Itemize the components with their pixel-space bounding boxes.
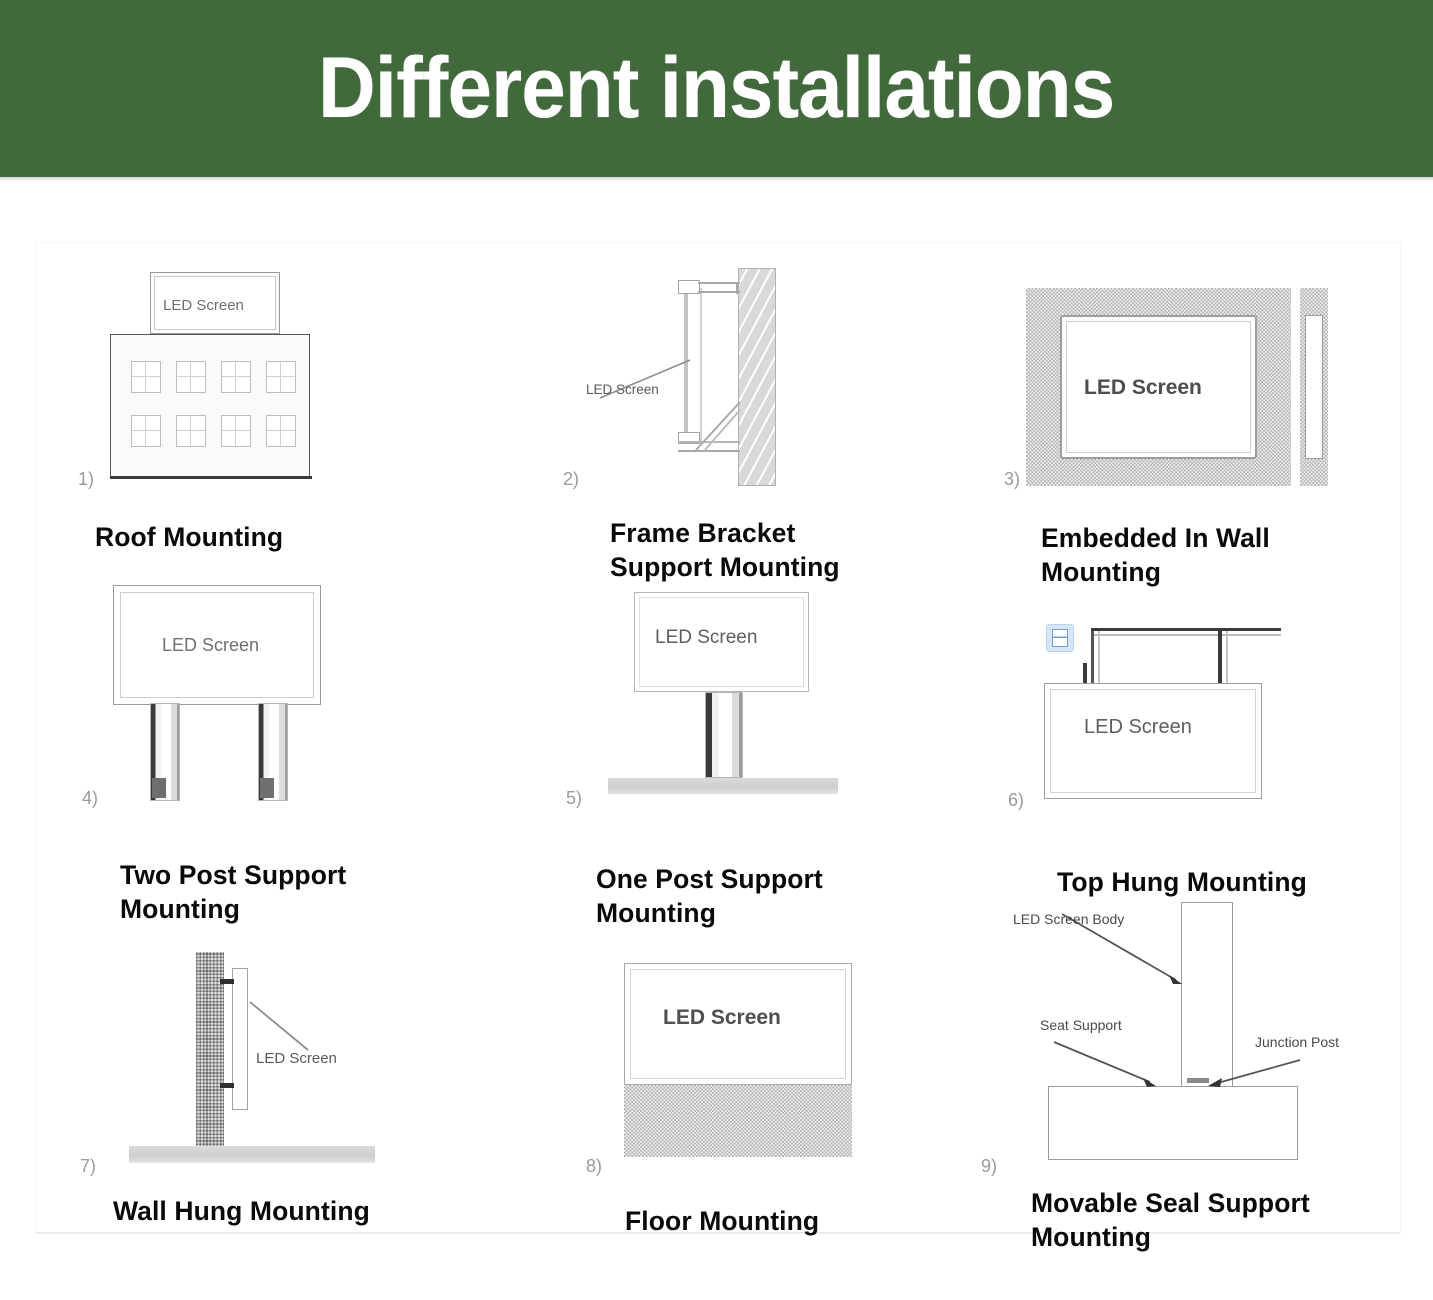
building-body xyxy=(110,334,310,478)
window xyxy=(221,415,251,447)
leader-line-seat-support xyxy=(1052,1040,1182,1092)
window xyxy=(221,361,251,393)
figure-index-6: 6) xyxy=(1008,790,1024,811)
screen-inner xyxy=(1050,689,1256,793)
figure-caption-6: Top Hung Mounting xyxy=(1057,865,1397,899)
ground-bar xyxy=(129,1146,375,1163)
hanger-left xyxy=(1091,631,1094,683)
diagonal-brace xyxy=(690,400,750,458)
figure-caption-5: One Post Support Mounting xyxy=(596,862,936,930)
seat-support-base xyxy=(1048,1086,1298,1160)
figure-index-8: 8) xyxy=(586,1156,602,1177)
hanger-right-shadow xyxy=(1226,631,1228,683)
figure-caption-9: Movable Seal Support Mounting xyxy=(1031,1186,1381,1254)
bracket-bottom xyxy=(220,1083,234,1088)
annotation-led-screen: LED Screen xyxy=(586,382,659,397)
figure-index-3: 3) xyxy=(1004,469,1020,490)
annotation-seat-support: Seat Support xyxy=(1040,1017,1122,1033)
annotation-led-screen-body: LED Screen Body xyxy=(1013,911,1124,927)
window xyxy=(266,361,296,393)
support-post-center xyxy=(705,692,743,778)
broken-image-icon[interactable] xyxy=(1046,624,1074,652)
leader-line-led-screen xyxy=(586,358,696,404)
two-post-screen-text: LED Screen xyxy=(162,635,259,656)
figure-index-2: 2) xyxy=(563,469,579,490)
floor-screen-text: LED Screen xyxy=(663,1006,781,1030)
building-base-shadow xyxy=(110,476,312,479)
window xyxy=(131,415,161,447)
overhead-beam-under xyxy=(1091,634,1281,636)
screen-side-profile xyxy=(1305,315,1323,459)
leader-line-junction-post xyxy=(1196,1052,1306,1092)
window xyxy=(176,415,206,447)
post-foot-left xyxy=(152,778,166,798)
annotation-led-screen: LED Screen xyxy=(256,1050,337,1067)
figure-index-9: 9) xyxy=(981,1156,997,1177)
post-foot-right xyxy=(260,778,274,798)
installations-grid: LED Screen xyxy=(0,0,1433,1300)
top-hung-screen-text: LED Screen xyxy=(1084,716,1192,739)
figure-caption-3: Embedded In Wall Mounting xyxy=(1041,521,1371,589)
figure-caption-2: Frame Bracket Support Mounting xyxy=(610,516,950,584)
figure-index-5: 5) xyxy=(566,788,582,809)
top-bracket-arm-upper xyxy=(698,282,740,284)
ground-bar xyxy=(608,778,838,794)
hanger-left-shadow xyxy=(1098,631,1100,683)
window xyxy=(176,361,206,393)
window xyxy=(266,415,296,447)
one-post-screen-text: LED Screen xyxy=(655,627,757,649)
figure-index-1: 1) xyxy=(78,469,94,490)
figure-caption-7: Wall Hung Mounting xyxy=(113,1194,473,1228)
figure-caption-8: Floor Mounting xyxy=(625,1204,965,1238)
top-bracket-block xyxy=(678,280,700,294)
figure-index-4: 4) xyxy=(82,788,98,809)
embedded-screen-text: LED Screen xyxy=(1084,376,1202,400)
top-bracket-arm-lower xyxy=(698,291,740,293)
window xyxy=(131,361,161,393)
figure-caption-1: Roof Mounting xyxy=(95,520,425,554)
hanger-stub xyxy=(1083,663,1087,683)
slide-page: Different installations LED Screen xyxy=(0,0,1433,1300)
diagram-movable-seal-support: LED Screen Body Seat Support Junction Po… xyxy=(0,0,480,320)
top-bracket-wall-joint xyxy=(736,282,738,294)
figure-index-7: 7) xyxy=(80,1156,96,1177)
leader-line-led-screen xyxy=(246,1000,316,1055)
hanger-right xyxy=(1218,631,1222,683)
figure-caption-4: Two Post Support Mounting xyxy=(120,858,460,926)
floor-base-block xyxy=(624,1085,852,1157)
bracket-top xyxy=(220,979,234,984)
overhead-beam xyxy=(1091,628,1281,631)
annotation-junction-post: Junction Post xyxy=(1255,1034,1339,1050)
